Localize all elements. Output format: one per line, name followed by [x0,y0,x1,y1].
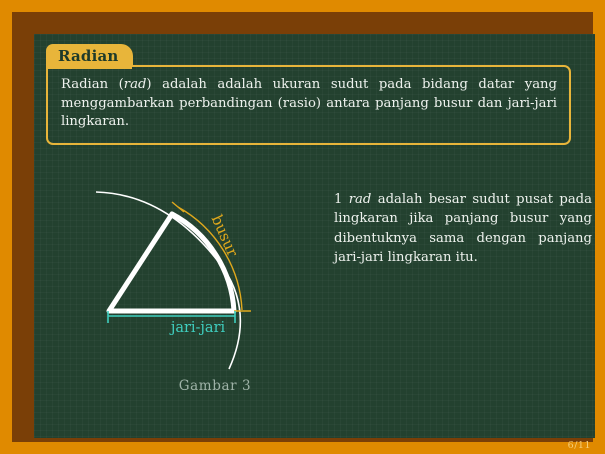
definition-box: Radian (rad) adalah adalah ukuran sudut … [46,65,571,145]
figure-caption: Gambar 3 [130,378,300,394]
page-indicator: 6/11 [568,440,591,451]
radian-diagram-svg [74,164,324,414]
frame-inner-border: Radian Radian (rad) adalah adalah ukuran… [12,12,593,442]
side-note-math-term: rad [349,192,372,207]
definition-math-term: rad [124,77,147,92]
arc-tick-top [172,202,184,212]
side-note-suffix: adalah besar sudut pusat pada lingkaran … [334,192,592,265]
slide-title-text: Radian [58,47,119,65]
radian-figure: jari-jari busur Gambar 3 [74,164,324,414]
slide-frame: Radian Radian (rad) adalah adalah ukuran… [0,0,605,454]
slide-board: Radian Radian (rad) adalah adalah ukuran… [34,34,595,438]
slide-title-tab: Radian [46,44,133,67]
side-note-paragraph: 1 rad adalah besar sudut pusat pada ling… [334,190,592,268]
side-note-prefix: 1 [334,192,349,207]
radius-label: jari-jari [124,320,272,336]
definition-prefix: Radian ( [61,77,124,92]
